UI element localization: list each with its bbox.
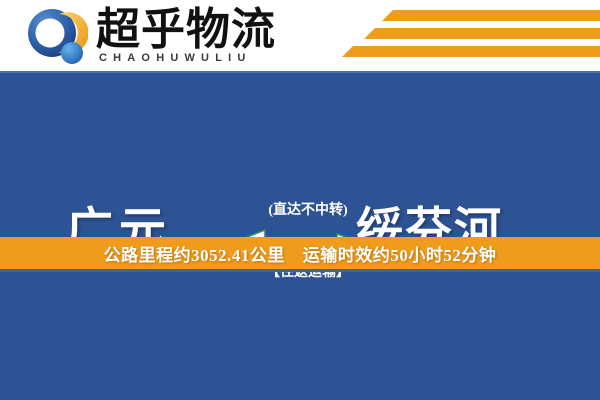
route-note-top: (直达不中转) [243, 199, 373, 219]
logistics-route-poster: 超乎物流 CHAOHUWULIU 广元 (直达不中转) 【往返运输】 绥芬河 公… [0, 0, 600, 400]
header-stripe-3 [353, 46, 600, 57]
brand-name-en: CHAOHUWULIU [99, 52, 252, 64]
poster-header: 超乎物流 CHAOHUWULIU [0, 0, 600, 73]
route-duration: 运输时效约50小时52分钟 [303, 241, 497, 266]
route-distance: 公路里程约3052.41公里 [104, 241, 285, 266]
header-stripe-1 [393, 10, 600, 21]
header-stripe-2 [375, 28, 600, 39]
circle-crescent-logo-icon [26, 8, 88, 66]
brand-name-cn: 超乎物流 [96, 6, 276, 54]
poster-bottom: 绥芬河镇、阜宁镇 [0, 272, 600, 400]
route-info-bar: 公路里程约3052.41公里 运输时效约50小时52分钟 [0, 237, 600, 269]
header-stripes-decoration [280, 0, 600, 73]
route-band: 广元 (直达不中转) 【往返运输】 绥芬河 [0, 75, 600, 237]
header-divider [0, 71, 600, 73]
